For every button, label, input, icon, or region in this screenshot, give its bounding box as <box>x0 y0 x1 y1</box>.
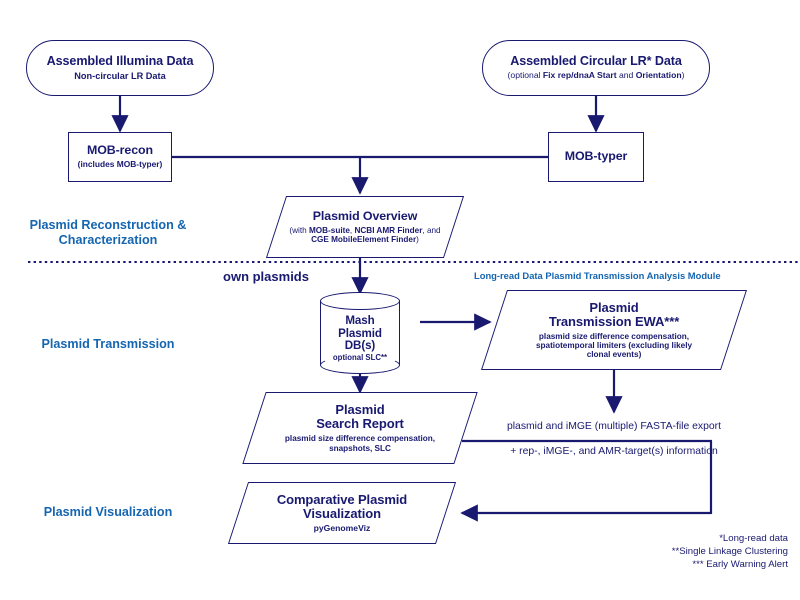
stage-label-plasmid-visualization: Plasmid Visualization <box>8 505 208 520</box>
subtitle-part-f: CGE MobileElement Finder <box>311 235 416 244</box>
node-line-2: Visualization <box>303 507 381 521</box>
subtitle-part-d: Orientation <box>636 70 682 80</box>
node-subtitle: optional SLC** <box>333 354 387 363</box>
node-subtitle-line-2: snapshots, SLC <box>329 444 391 453</box>
node-title: Assembled Circular LR* Data <box>510 55 682 69</box>
node-subtitle: Non-circular LR Data <box>74 71 165 81</box>
node-subtitle: (with MOB-suite, NCBI AMR Finder, and CG… <box>282 226 448 244</box>
label-export-line-2: + rep-, iMGE-, and AMR-target(s) informa… <box>452 446 776 458</box>
node-title: MOB-typer <box>565 150 627 163</box>
subtitle-part-b: MOB-suite <box>309 226 350 235</box>
node-plasmid-search-report[interactable]: Plasmid Search Report plasmid size diffe… <box>254 392 466 464</box>
footnote-long-read: *Long-read data <box>520 533 788 546</box>
subtitle-part-d: NCBI AMR Finder <box>354 226 422 235</box>
node-mob-recon[interactable]: MOB-recon (includes MOB-typer) <box>68 132 172 182</box>
footnote-slc: **Single Linkage Clustering <box>520 546 788 559</box>
label-export-line-1: plasmid and iMGE (multiple) FASTA-file e… <box>452 421 776 433</box>
subtitle-part-b: Fix rep/dnaA Start <box>543 70 617 80</box>
node-subtitle-line-1: plasmid size difference compensation, <box>539 332 689 341</box>
stage-line-1: Plasmid Visualization <box>8 505 208 520</box>
node-line-1: Comparative Plasmid <box>277 493 407 507</box>
node-subtitle-line-1: plasmid size difference compensation, <box>285 434 435 443</box>
stage-line-2: Characterization <box>8 233 208 248</box>
subtitle-part-a: (with <box>289 226 309 235</box>
node-title: Plasmid Overview <box>313 210 417 223</box>
subtitle-part-a: (optional <box>508 70 543 80</box>
footnotes: *Long-read data **Single Linkage Cluster… <box>520 533 788 572</box>
diagram-canvas: Assembled Illumina Data Non-circular LR … <box>0 0 800 600</box>
node-subtitle: (includes MOB-typer) <box>78 160 163 169</box>
node-line-1: Plasmid <box>589 301 638 315</box>
node-title: MOB-recon <box>87 144 153 157</box>
subtitle-part-c: and <box>617 70 636 80</box>
node-line-2: Search Report <box>316 417 404 431</box>
node-mob-typer[interactable]: MOB-typer <box>548 132 644 182</box>
node-line-1: Plasmid <box>335 403 384 417</box>
node-subtitle-line-3: clonal events) <box>587 350 642 359</box>
subtitle-part-g: ) <box>416 235 419 244</box>
node-plasmid-overview[interactable]: Plasmid Overview (with MOB-suite, NCBI A… <box>276 196 454 258</box>
stage-line-1: Plasmid Transmission <box>8 337 208 352</box>
node-subtitle-line-2: spatiotemporal limiters (excluding likel… <box>536 341 692 350</box>
node-assembled-circular-lr-data[interactable]: Assembled Circular LR* Data (optional Fi… <box>482 40 710 96</box>
node-plasmid-transmission-ewa[interactable]: Plasmid Transmission EWA*** plasmid size… <box>494 290 734 370</box>
node-comparative-plasmid-visualization[interactable]: Comparative Plasmid Visualization pyGeno… <box>238 482 446 544</box>
node-line-2: Transmission EWA*** <box>549 315 679 329</box>
node-subtitle: (optional Fix rep/dnaA Start and Orienta… <box>508 71 685 81</box>
node-line-1: Mash <box>345 315 374 328</box>
node-assembled-illumina-data[interactable]: Assembled Illumina Data Non-circular LR … <box>26 40 214 96</box>
node-subtitle: pyGenomeViz <box>314 524 371 534</box>
stage-line-1: Plasmid Reconstruction & <box>8 218 208 233</box>
node-title: Assembled Illumina Data <box>47 55 194 69</box>
node-line-3: DB(s) <box>345 340 375 353</box>
node-mash-plasmid-db[interactable]: Mash Plasmid DB(s) optional SLC** <box>320 292 400 374</box>
subtitle-part-e: , and <box>422 226 440 235</box>
stage-label-plasmid-reconstruction: Plasmid Reconstruction & Characterizatio… <box>8 218 208 249</box>
label-transmission-module: Long-read Data Plasmid Transmission Anal… <box>474 270 798 281</box>
footnote-ewa: *** Early Warning Alert <box>520 559 788 572</box>
stage-label-plasmid-transmission: Plasmid Transmission <box>8 337 208 352</box>
subtitle-part-e: ) <box>682 70 685 80</box>
label-own-plasmids: own plasmids <box>196 269 336 285</box>
